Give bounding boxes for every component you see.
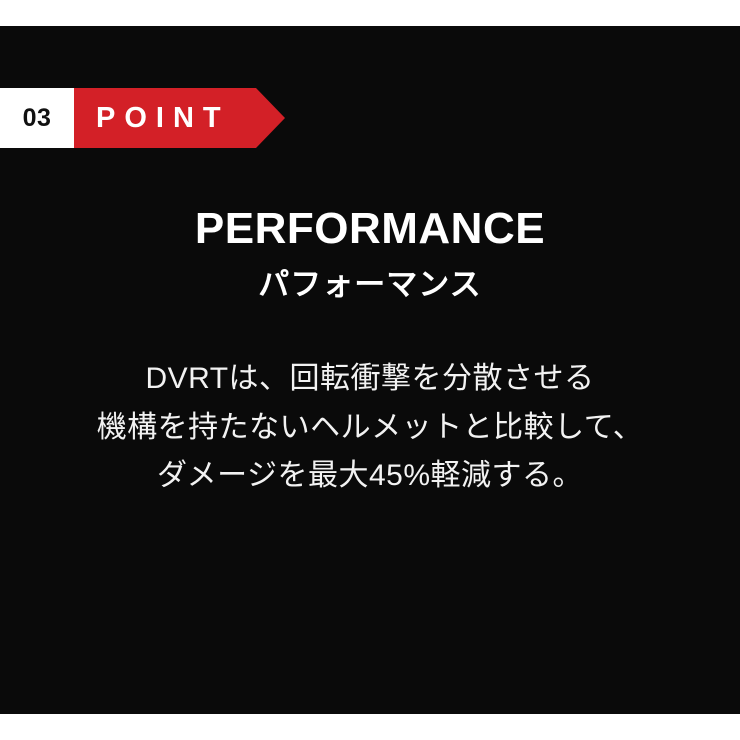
top-white-band (0, 0, 740, 26)
poster-canvas: 03 POINT PERFORMANCE パフォーマンス DVRTは、回転衝撃を… (0, 0, 740, 740)
body-line-1: DVRTは、回転衝撃を分散させる (0, 355, 740, 404)
point-banner: 03 POINT (0, 88, 256, 148)
bottom-white-band (0, 714, 740, 740)
heading-english: PERFORMANCE (0, 206, 740, 252)
point-label: POINT (96, 104, 230, 133)
point-number: 03 (23, 106, 52, 131)
point-label-box: POINT (74, 88, 256, 148)
body-line-2: 機構を持たないヘルメットと比較して、 (0, 404, 740, 453)
heading-japanese: パフォーマンス (0, 268, 740, 302)
body-line-3: ダメージを最大45%軽減する。 (0, 452, 740, 501)
point-number-box: 03 (0, 88, 74, 148)
body-copy: DVRTは、回転衝撃を分散させる 機構を持たないヘルメットと比較して、 ダメージ… (0, 355, 740, 501)
